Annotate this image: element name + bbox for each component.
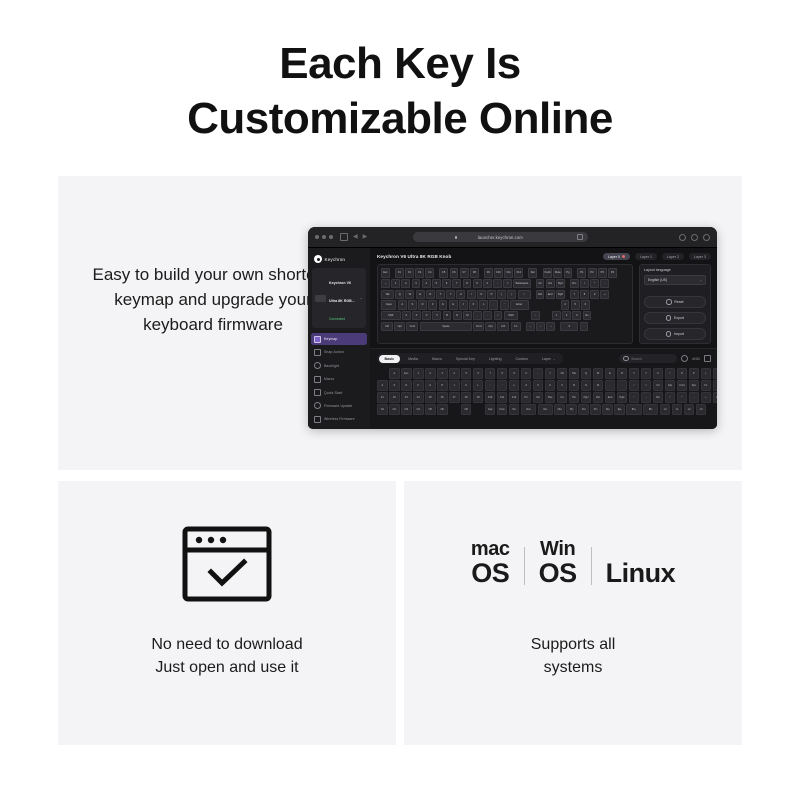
keycap[interactable]: F8 [470,268,479,277]
keycap[interactable]: P2 [588,268,597,277]
keycap[interactable]: P4 [608,268,617,277]
keycap[interactable]: . [483,311,492,320]
key-grid-key[interactable]: Mut [554,404,565,415]
keycap[interactable]: Del [536,290,545,299]
keycap[interactable]: N [453,311,462,320]
keymap-body: EscF1F2F3F4F5F6F7F8F9F10F11F12DelKnobMut… [377,264,711,344]
keycap[interactable]: + [600,290,609,299]
key-grid-key[interactable]: Scr [533,392,544,403]
key-grid-key[interactable]: ↵ [509,380,520,391]
keycap[interactable]: F1 [395,268,404,277]
keycap[interactable]: 0 [560,322,578,331]
key-grid-key[interactable]: N6 [437,404,448,415]
keycap[interactable]: Ctrl [381,322,393,331]
chevron-down-icon: ⌄ [699,278,702,282]
key-grid-key[interactable]: End [605,392,616,403]
minimize-icon[interactable] [322,235,326,239]
keycap[interactable]: . [580,322,589,331]
key-grid-key[interactable]: F1 [377,392,388,403]
key-grid-key[interactable]: 1 [413,368,424,379]
keycap[interactable]: O [477,290,486,299]
close-icon[interactable] [315,235,319,239]
key-grid-key[interactable]: Spc [689,380,700,391]
key-grid-key[interactable]: H [437,380,448,391]
key-grid-key[interactable]: Ins [557,392,568,403]
key-grid-key[interactable]: En [713,392,717,403]
key-grid-key[interactable]: Ply [566,404,577,415]
key-grid-key[interactable]: F4 [413,392,424,403]
keyboard-row: EscF1F2F3F4F5F6F7F8F9F10F11F12DelKnobMut… [381,268,629,277]
keycap[interactable]: Opt [394,322,405,331]
key-grid-key[interactable]: E [605,368,616,379]
key-grid-key[interactable]: F3 [401,392,412,403]
sidebar-item-snap-action[interactable]: Snap Action [311,346,367,358]
keycap[interactable]: 1 [552,311,561,320]
layout-language-select[interactable]: English (US) ⌄ [644,275,706,285]
tab-custom[interactable]: Custom [509,355,533,363]
keycap[interactable]: B [443,311,452,320]
keycap[interactable]: ' [500,300,509,309]
keycap[interactable]: Z [402,311,411,320]
keycap[interactable]: Enter [510,300,529,309]
keycap[interactable]: PgU [556,279,565,288]
keycap[interactable]: Fn [511,322,522,331]
key-grid-key[interactable]: F10 [485,392,496,403]
sidebar-item-macro[interactable]: Macro [311,373,367,385]
keycap[interactable]: 7 [570,290,579,299]
key-grid-key[interactable]: Hm [569,392,580,403]
tab-media[interactable]: Media [402,355,424,363]
layer-tab-layer-3[interactable]: Layer 3 [689,253,711,260]
keycap[interactable]: F10 [494,268,503,277]
key-grid-key[interactable]: 2 [425,368,436,379]
key-grid-key[interactable]: K [461,380,472,391]
keycap[interactable]: G [439,300,448,309]
key-grid-key[interactable]: / [629,380,640,391]
sidebar-item-label: Quick Start [324,391,342,395]
key-grid-key[interactable]: Stp [602,404,613,415]
key-grid-key[interactable]: A [389,368,400,379]
keycap[interactable]: - [493,279,502,288]
device-status: Connected [329,317,345,321]
keycap[interactable]: 4 [422,279,431,288]
keycap[interactable]: → [546,322,555,331]
keycap[interactable]: 0 [483,279,492,288]
share-icon[interactable] [577,234,583,240]
keycap[interactable]: F2 [405,268,414,277]
keycap[interactable]: Shift [381,311,401,320]
keycap[interactable]: V [432,311,441,320]
key-grid-key[interactable]: PgU [581,392,592,403]
keycap[interactable]: = [503,279,512,288]
keycap[interactable]: F3 [415,268,424,277]
keycap[interactable]: Tab [381,290,394,299]
key-grid-key[interactable]: 7 [485,368,496,379]
key-grid-key[interactable]: ' [497,380,508,391]
key-grid-key[interactable]: ] [713,368,717,379]
export-button-label: Export [674,316,684,320]
sidebar-item-wireless-firmware[interactable]: Wireless Firmware [311,413,367,425]
key-grid-key[interactable]: 9 [509,368,520,379]
key-grid-key[interactable]: , [605,380,616,391]
keycap[interactable]: Cmd [473,322,484,331]
chevron-down-icon: ⌄ [553,357,556,361]
keycap[interactable]: ↑ [531,311,540,320]
key-grid-key[interactable]: F7 [449,392,460,403]
keyboard-row: CtrlOptCmdSpaceCmdOptCtrlFn←↓→0. [381,322,629,331]
key-grid-key[interactable]: ⌫ [557,368,568,379]
key-grid-key[interactable]: N [581,380,592,391]
keycap[interactable]: 1 [391,279,400,288]
key-grid-key[interactable]: 3 [437,368,448,379]
key-grid-key[interactable]: Ctl [653,380,664,391]
keycap[interactable]: / [494,311,503,320]
key-grid-key[interactable]: Eje [614,404,625,415]
keycap[interactable]: U [456,290,465,299]
keycap[interactable]: End [546,290,555,299]
keycap[interactable]: Ctrl [497,322,509,331]
key-grid-key[interactable]: - [533,368,544,379]
keycap[interactable]: F5 [439,268,448,277]
key-grid-key[interactable]: J [449,380,460,391]
keycap[interactable]: 9 [473,279,482,288]
tab-lighting[interactable]: Lighting [483,355,508,363]
keycap[interactable]: Cmd [406,322,418,331]
keycap[interactable]: Space [420,322,472,331]
keycap[interactable]: Opt [485,322,496,331]
key-grid-key[interactable]: Nm [653,392,664,403]
key-grid-key[interactable]: ⇧ [641,380,652,391]
key-grid-key[interactable]: Prt [521,392,532,403]
key-grid-key[interactable]: - [689,392,700,403]
key-grid-key[interactable]: Vol- [538,404,553,415]
key-grid-key[interactable]: V [557,380,568,391]
key-grid-key[interactable]: S [389,380,400,391]
layout-side-pane: Layout language English (US) ⌄ ResetExpo… [639,264,711,344]
extensions-icon[interactable] [691,234,698,241]
os-badges: mac OS Win OS Linux [404,539,742,587]
export-icon [666,315,671,320]
divider [591,547,592,585]
keycap[interactable]: Mute [553,268,562,277]
key-grid-key[interactable]: Cap [485,404,496,415]
keycap[interactable]: 9 [590,290,599,299]
keycap[interactable]: Ins [536,279,545,288]
key-grid-key[interactable]: PgD [617,392,628,403]
keycap[interactable]: 8 [580,290,589,299]
keycap[interactable]: 3 [572,311,581,320]
key-grid-key[interactable]: + [701,392,712,403]
import-button-label: Import [674,332,684,336]
keycap[interactable]: C [422,311,431,320]
keyboard-title: Keychron V6 Ultra 8K RGB Knob [377,254,451,259]
key-grid-spacer [377,368,388,379]
key-grid-key[interactable]: Opt [665,380,676,391]
key-grid-key[interactable]: P [689,368,700,379]
tab-layer[interactable]: Layer⌄ [536,355,562,363]
keycap[interactable]: - [600,279,609,288]
key-grid-key[interactable]: ← [713,380,717,391]
key-grid-key[interactable]: F [413,380,424,391]
sidebar-item-icon [314,389,321,396]
keycap[interactable]: 2 [401,279,410,288]
back-icon[interactable]: ◀ [353,234,358,240]
keycap[interactable]: L [479,300,488,309]
keycap[interactable]: , [473,311,482,320]
key-grid-key[interactable]: L2 [684,404,695,415]
key-grid-key[interactable]: F11 [497,392,508,403]
key-grid-key[interactable]: I [665,368,676,379]
key-grid-key[interactable]: 6 [473,368,484,379]
keycap[interactable]: Y [446,290,455,299]
traffic-lights[interactable] [315,235,333,239]
key-grid-key[interactable]: ↓ [641,392,652,403]
export-button[interactable]: Export [644,312,706,324]
key-grid-key[interactable]: G [425,380,436,391]
keycap[interactable]: 2 [562,311,571,320]
key-grid-key[interactable]: Bri+ [626,404,641,415]
keycap[interactable]: Del [528,268,537,277]
keycap[interactable]: 3 [412,279,421,288]
keycap[interactable]: I [467,290,476,299]
keycap[interactable]: X [412,311,421,320]
key-grid-key[interactable]: A [377,380,388,391]
key-grid-key[interactable]: Fn [701,380,712,391]
settings-icon[interactable] [681,355,688,362]
device-selector[interactable]: Keychron V6 Ultra 8K RGB... Connected ⌄ [312,268,366,328]
keycap[interactable]: Esc [381,268,390,277]
sidebar-item-quick-start[interactable]: Quick Start [311,387,367,399]
keycap[interactable]: 6 [581,300,590,309]
os-badge-linux-label: Linux [606,560,676,587]
layer-tab-layer-2[interactable]: Layer 2 [662,253,684,260]
os-support-caption-line-2: systems [404,656,742,679]
chevron-down-icon[interactable]: ⌄ [360,296,363,300]
key-grid-key[interactable]: N1 [377,404,388,415]
key-grid-key[interactable]: . [617,380,628,391]
sidebar-item-icon [314,376,321,383]
key-grid-key[interactable]: Vol+ [521,404,536,415]
browser-window-screenshot: ◀ ▶ launcher.keychron.com [308,227,717,429]
keycap[interactable]: R [426,290,435,299]
sidebar-item-backlight[interactable]: Backlight [311,360,367,372]
import-button[interactable]: Import [644,328,706,340]
keycap[interactable]: Q [395,290,404,299]
key-grid-key[interactable]: / [665,392,676,403]
key-grid-spacer [449,404,460,415]
key-grid-key[interactable]: ↑ [629,392,640,403]
keyboard-icon[interactable] [704,355,711,362]
keyboard-spacer [538,268,541,275]
keycap[interactable]: M [463,311,472,320]
keycap[interactable]: A [398,300,407,309]
reset-button[interactable]: Reset [644,296,706,308]
key-grid-key[interactable]: N4 [413,404,424,415]
key-grid-key[interactable]: M [593,380,604,391]
key-grid-key[interactable]: L1 [672,404,683,415]
key-grid-key[interactable]: F8 [461,392,472,403]
keycap[interactable]: 4 [561,300,570,309]
keycap[interactable]: E [416,290,425,299]
keycap[interactable]: ; [489,300,498,309]
keycap[interactable]: D [418,300,427,309]
layer-modified-badge [622,255,625,258]
keycap[interactable]: \ [518,290,531,299]
tab-special-key[interactable]: Special Key [450,355,481,363]
key-grid-key[interactable]: Z [521,380,532,391]
key-grid-key[interactable]: F2 [389,392,400,403]
keyboard-spacer [391,268,393,275]
keycap[interactable]: F7 [460,268,469,277]
key-grid-key[interactable]: 4 [449,368,460,379]
key-grid-key[interactable]: 8 [497,368,508,379]
keycap[interactable]: P1 [577,268,586,277]
keycap[interactable]: [ [497,290,506,299]
layout-standard-label: ANSI [692,357,700,361]
brand-name: Keychron [325,257,346,262]
keycap[interactable]: Caps [381,300,396,309]
sidebar-item-keymap[interactable]: Keymap [311,333,367,345]
sidebar-icon[interactable] [340,233,348,241]
key-grid-key[interactable]: Tab [569,368,580,379]
launcher-app: Keychron Keychron V6 Ultra 8K RGB... Con… [308,248,717,429]
key-grid[interactable]: AEsc1234567890-=⌫TabQWERTYUIOP[]\ASDFGHJ… [377,368,711,415]
keycap[interactable]: En [583,311,592,320]
key-grid-key[interactable]: ; [485,380,496,391]
key-grid-key[interactable]: C [545,380,556,391]
keycap[interactable]: * [590,279,599,288]
key-grid-key[interactable]: N0 [461,404,472,415]
tab-macro[interactable]: Macro [426,355,448,363]
key-grid-key[interactable]: Bri- [643,404,658,415]
forward-icon[interactable]: ▶ [363,234,368,240]
keycap[interactable]: F9 [484,268,493,277]
key-grid-key[interactable]: Y [641,368,652,379]
keycap[interactable]: P3 [598,268,607,277]
keycap[interactable]: ~ [381,279,390,288]
keycap[interactable]: 5 [432,279,441,288]
key-grid-key[interactable]: Q [581,368,592,379]
key-grid-key[interactable]: X [533,380,544,391]
layer-tab-layer-0[interactable]: Layer 0 [603,253,630,260]
keycap[interactable]: J [459,300,468,309]
keycap[interactable]: K [469,300,478,309]
keycap[interactable]: ↓ [536,322,545,331]
keycap[interactable]: 7 [452,279,461,288]
key-grid-key[interactable]: Pau [545,392,556,403]
key-grid-key[interactable]: [ [701,368,712,379]
key-grid-key[interactable]: N3 [401,404,412,415]
key-grid-key[interactable]: B [569,380,580,391]
key-grid-key[interactable]: 5 [461,368,472,379]
key-grid-key[interactable]: D [401,380,412,391]
sidebar-item-firmware-update[interactable]: Firmware Update [311,400,367,412]
sidebar-item-icon [314,349,321,356]
key-grid-key[interactable]: L [473,380,484,391]
key-grid-key[interactable]: L0 [660,404,671,415]
key-grid-key[interactable]: N5 [425,404,436,415]
key-grid-key[interactable]: N2 [389,404,400,415]
keycap[interactable]: Hm [546,279,555,288]
key-grid-key[interactable]: Num [497,404,508,415]
import-icon [666,331,671,336]
keycap[interactable]: W [405,290,414,299]
key-grid-key[interactable]: Cmd [677,380,688,391]
keyboard-spacer [541,311,551,318]
key-grid-key[interactable]: F6 [437,392,448,403]
keycap[interactable]: F12 [514,268,523,277]
key-grid-key[interactable]: U [653,368,664,379]
keycap[interactable]: 6 [442,279,451,288]
keycap[interactable]: PgD [556,290,565,299]
key-grid-key[interactable]: Prv [590,404,601,415]
key-grid-key[interactable]: T [629,368,640,379]
download-icon[interactable] [679,234,686,241]
key-grid-key[interactable]: 0 [521,368,532,379]
keycap[interactable]: Shift [504,311,519,320]
keycap[interactable]: H [449,300,458,309]
search-input[interactable]: Search [619,354,677,363]
key-grid-key[interactable]: F12 [509,392,520,403]
key-category-tabs: BasicMediaMacroSpecial KeyLightingCustom… [377,353,563,364]
maximize-icon[interactable] [329,235,333,239]
keycap[interactable]: ← [526,322,535,331]
app-main: Keychron V6 Ultra 8K RGB Knob Layer 0Lay… [370,248,717,429]
layer-tab-layer-1[interactable]: Layer 1 [635,253,657,260]
key-grid-key[interactable]: Esc [401,368,412,379]
key-grid-key[interactable]: L3 [696,404,707,415]
keyboard-spacer [530,300,559,307]
key-grid-key[interactable]: F5 [425,392,436,403]
key-grid-key[interactable]: O [677,368,688,379]
keyboard-spacer [522,322,524,329]
keycap[interactable]: 5 [571,300,580,309]
key-grid-key[interactable]: Scr [509,404,520,415]
keycap[interactable]: Pg [564,268,573,277]
keycap[interactable]: F [428,300,437,309]
keycap[interactable]: P [487,290,496,299]
keycap[interactable]: S [408,300,417,309]
keycap[interactable]: Knob [543,268,552,277]
keyboard-layout[interactable]: EscF1F2F3F4F5F6F7F8F9F10F11F12DelKnobMut… [377,264,633,344]
keycap[interactable]: 8 [463,279,472,288]
key-grid-key[interactable]: * [677,392,688,403]
keycap[interactable]: F11 [504,268,513,277]
keycap[interactable]: Nm [570,279,579,288]
sidebar-item-label: Macro [324,377,334,381]
keycap[interactable]: ] [507,290,516,299]
tab-basic[interactable]: Basic [379,355,401,363]
key-grid-key[interactable]: W [593,368,604,379]
key-grid-key[interactable]: = [545,368,556,379]
keycap[interactable]: F4 [425,268,434,277]
keycap[interactable]: Backspace [513,279,530,288]
key-grid-key[interactable]: R [617,368,628,379]
browser-window-check-icon [181,525,273,608]
keycap[interactable]: / [580,279,589,288]
keycap[interactable]: F6 [450,268,459,277]
sidebar-item-key-test[interactable]: Key Test [311,427,367,429]
key-grid-key[interactable]: F9 [473,392,484,403]
layout-language-label: Layout language [644,268,706,272]
keycap[interactable]: T [436,290,445,299]
os-support-caption: Supports all systems [404,633,742,679]
url-bar[interactable]: launcher.keychron.com [413,232,588,242]
profile-icon[interactable] [703,234,710,241]
keymap-section: Keychron V6 Ultra 8K RGB Knob Layer 0Lay… [370,248,717,344]
key-grid-key[interactable]: Del [593,392,604,403]
key-grid-key[interactable]: Nxt [578,404,589,415]
